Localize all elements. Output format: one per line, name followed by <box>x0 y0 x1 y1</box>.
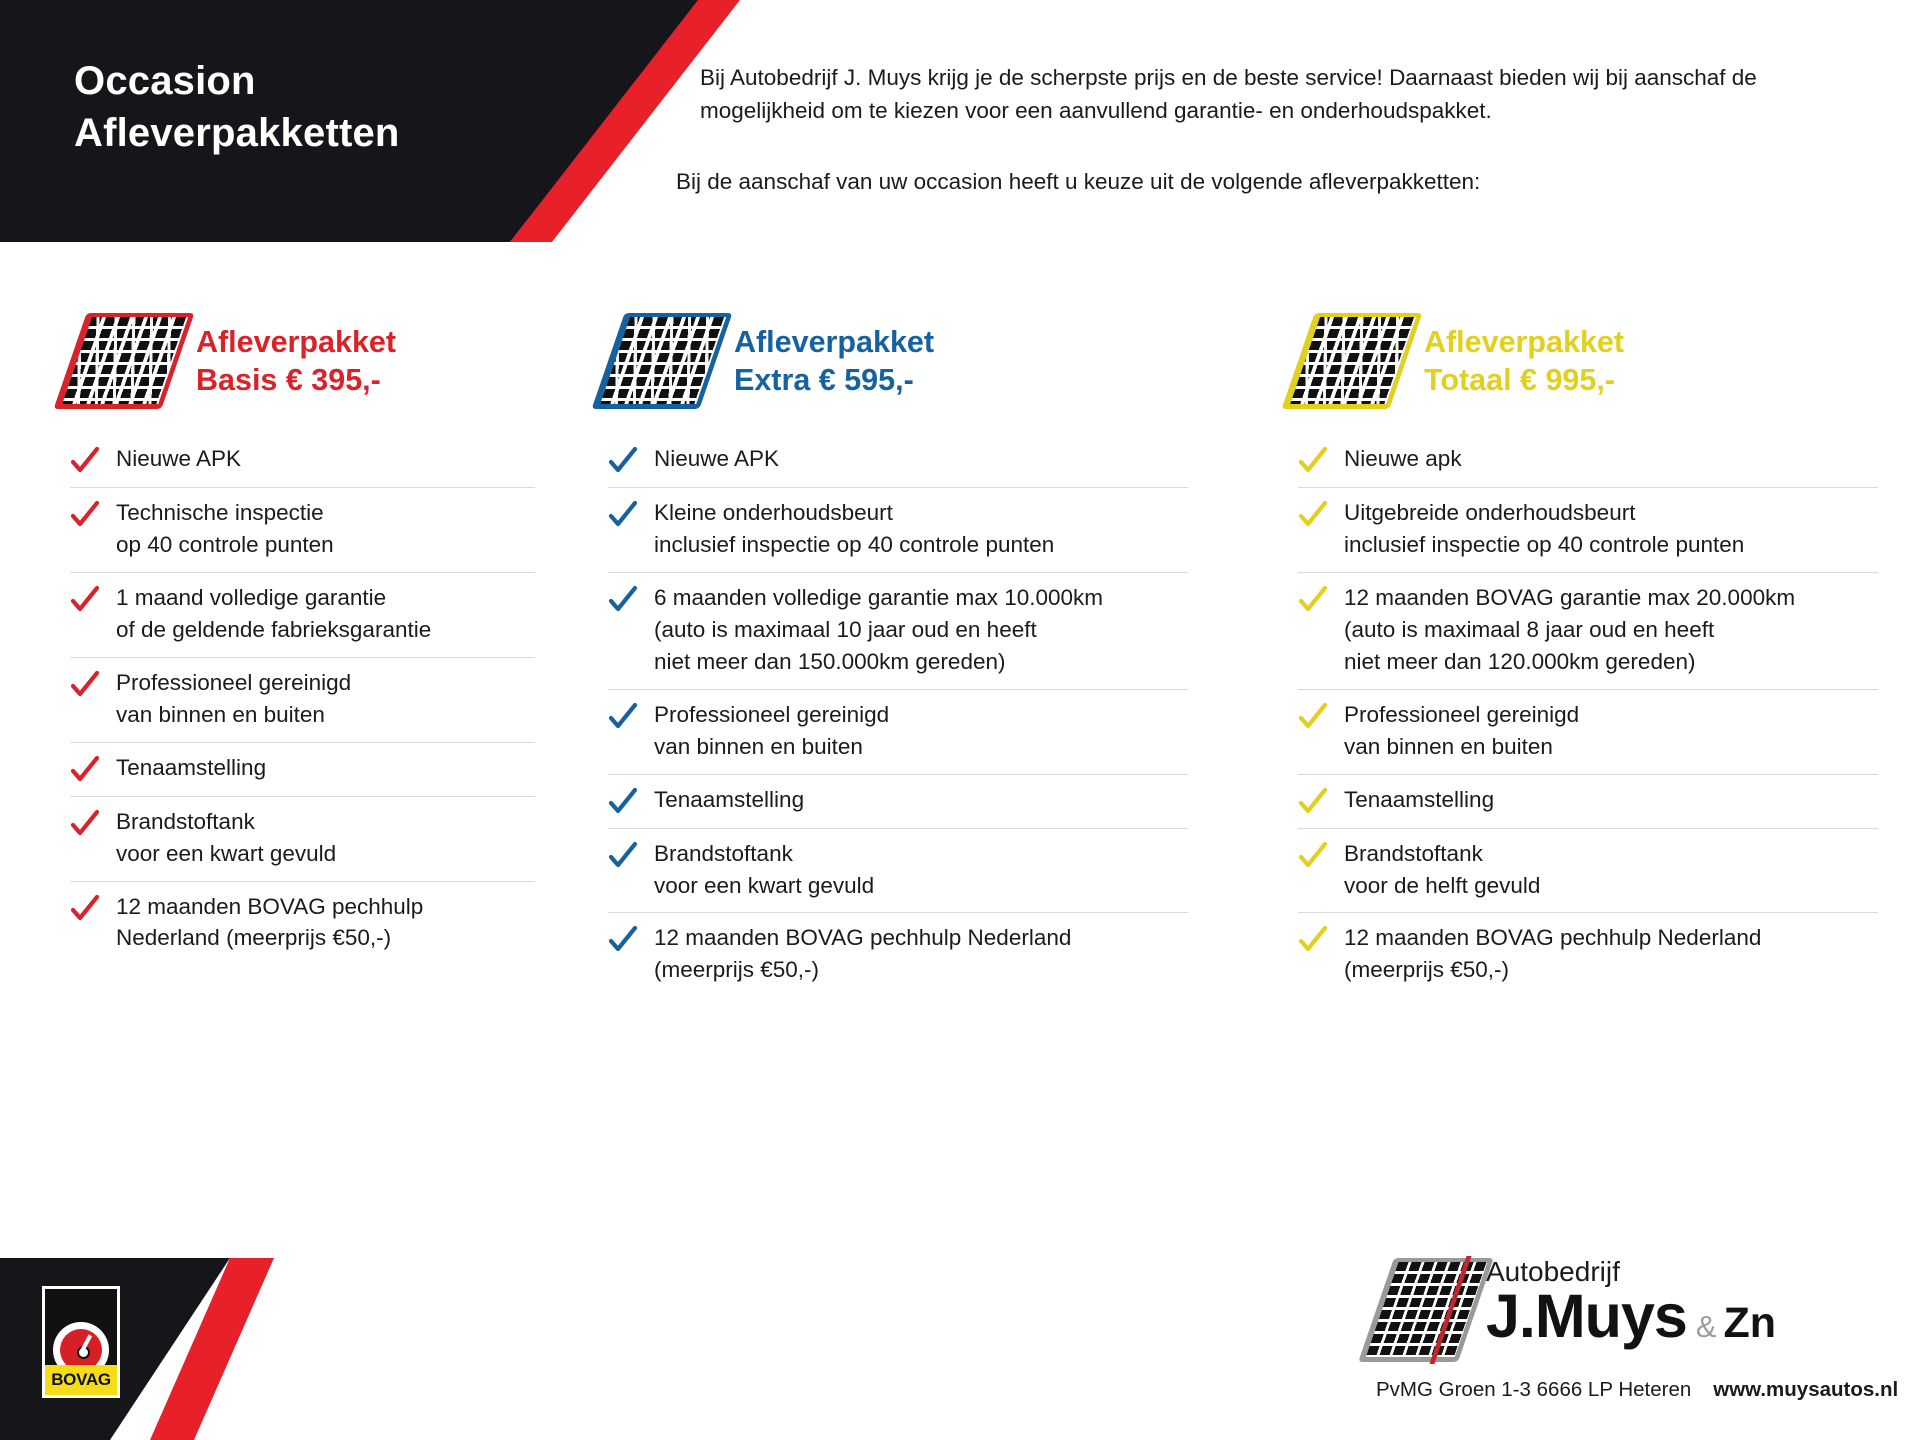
check-icon <box>608 500 638 530</box>
package-title-totaal: Afleverpakket Totaal € 995,- <box>1424 323 1624 400</box>
feature-text: 12 maanden BOVAG pechhulp Nederland (mee… <box>116 891 423 955</box>
package-title-extra: Afleverpakket Extra € 595,- <box>734 323 934 400</box>
feature-text: 1 maand volledige garantie of de geldend… <box>116 582 431 646</box>
package-header-extra: Afleverpakket Extra € 595,- <box>608 300 1188 422</box>
feature-item: Brandstoftank voor een kwart gevuld <box>608 829 1188 914</box>
feature-text: Professioneel gereinigd van binnen en bu… <box>1344 699 1579 763</box>
feature-item: Tenaamstelling <box>608 775 1188 829</box>
feature-text: 6 maanden volledige garantie max 10.000k… <box>654 582 1103 678</box>
feature-text: Uitgebreide onderhoudsbeurt inclusief in… <box>1344 497 1744 561</box>
flyer-page: Occasion Afleverpakketten Bij Autobedrij… <box>0 0 1920 1440</box>
feature-item: 12 maanden BOVAG pechhulp Nederland (mee… <box>70 882 535 966</box>
feature-text: Nieuwe apk <box>1344 443 1462 475</box>
check-icon <box>70 809 100 839</box>
check-icon <box>70 755 100 785</box>
feature-text: Nieuwe APK <box>116 443 241 475</box>
feature-item: Tenaamstelling <box>1298 775 1878 829</box>
package-title-line1: Afleverpakket <box>1424 323 1624 361</box>
feature-item: Uitgebreide onderhoudsbeurt inclusief in… <box>1298 488 1878 573</box>
feature-item: 12 maanden BOVAG garantie max 20.000km (… <box>1298 573 1878 690</box>
check-icon <box>1298 702 1328 732</box>
package-header-basis: Afleverpakket Basis € 395,- <box>70 300 535 422</box>
package-title-basis: Afleverpakket Basis € 395,- <box>196 323 396 400</box>
check-icon <box>1298 787 1328 817</box>
company-address: PvMG Groen 1-3 6666 LP Heteren <box>1376 1378 1691 1402</box>
feature-text: Kleine onderhoudsbeurt inclusief inspect… <box>654 497 1054 561</box>
footer-right: Autobedrijf J.Muys & Zn PvMG Groen 1-3 6… <box>1376 1258 1920 1402</box>
package-card-totaal: Afleverpakket Totaal € 995,- Nieuwe apk … <box>1298 300 1878 997</box>
feature-item: Brandstoftank voor de helft gevuld <box>1298 829 1878 914</box>
package-card-extra: Afleverpakket Extra € 595,- Nieuwe APK K… <box>608 300 1188 997</box>
package-header-totaal: Afleverpakket Totaal € 995,- <box>1298 300 1878 422</box>
check-icon <box>1298 841 1328 871</box>
feature-text: Tenaamstelling <box>1344 784 1494 816</box>
contact-row: PvMG Groen 1-3 6666 LP Heteren www.muysa… <box>1376 1378 1920 1402</box>
feature-item: 12 maanden BOVAG pechhulp Nederland (mee… <box>608 913 1188 997</box>
feature-item: Professioneel gereinigd van binnen en bu… <box>1298 690 1878 775</box>
check-icon <box>1298 925 1328 955</box>
bovag-label: BOVAG <box>51 1370 111 1390</box>
bovag-logo: BOVAG <box>42 1286 120 1398</box>
check-icon <box>608 925 638 955</box>
feature-item: 12 maanden BOVAG pechhulp Nederland (mee… <box>1298 913 1878 997</box>
feature-text: 12 maanden BOVAG garantie max 20.000km (… <box>1344 582 1795 678</box>
feature-list-totaal: Nieuwe apk Uitgebreide onderhoudsbeurt i… <box>1298 434 1878 997</box>
feature-item: Professioneel gereinigd van binnen en bu… <box>70 658 535 743</box>
package-title-line2: Extra € 595,- <box>734 361 934 399</box>
check-icon <box>70 585 100 615</box>
check-icon <box>608 446 638 476</box>
tire-icon <box>70 313 178 409</box>
check-icon <box>608 585 638 615</box>
intro-paragraph-2: Bij de aanschaf van uw occasion heeft u … <box>676 166 1876 199</box>
feature-text: Professioneel gereinigd van binnen en bu… <box>116 667 351 731</box>
feature-list-basis: Nieuwe APK Technische inspectie op 40 co… <box>70 434 535 965</box>
feature-item: 6 maanden volledige garantie max 10.000k… <box>608 573 1188 690</box>
company-name: J.Muys <box>1486 1288 1687 1346</box>
feature-text: Brandstoftank voor een kwart gevuld <box>654 838 874 902</box>
intro-paragraph-1: Bij Autobedrijf J. Muys krijg je de sche… <box>700 62 1880 128</box>
feature-text: 12 maanden BOVAG pechhulp Nederland (mee… <box>654 922 1071 986</box>
feature-item: Kleine onderhoudsbeurt inclusief inspect… <box>608 488 1188 573</box>
feature-item: Nieuwe apk <box>1298 434 1878 488</box>
check-icon <box>608 702 638 732</box>
feature-text: Professioneel gereinigd van binnen en bu… <box>654 699 889 763</box>
feature-item: Professioneel gereinigd van binnen en bu… <box>608 690 1188 775</box>
check-icon <box>1298 585 1328 615</box>
company-website[interactable]: www.muysautos.nl <box>1713 1378 1898 1402</box>
feature-item: Brandstoftank voor een kwart gevuld <box>70 797 535 882</box>
package-title-line1: Afleverpakket <box>734 323 934 361</box>
feature-item: Tenaamstelling <box>70 743 535 797</box>
feature-item: Technische inspectie op 40 controle punt… <box>70 488 535 573</box>
company-ampersand: & <box>1696 1309 1717 1345</box>
feature-text: Tenaamstelling <box>116 752 266 784</box>
page-title-line2: Afleverpakketten <box>74 107 400 159</box>
feature-text: 12 maanden BOVAG pechhulp Nederland (mee… <box>1344 922 1761 986</box>
page-title: Occasion Afleverpakketten <box>74 55 400 159</box>
feature-text: Brandstoftank voor de helft gevuld <box>1344 838 1540 902</box>
feature-list-extra: Nieuwe APK Kleine onderhoudsbeurt inclus… <box>608 434 1188 997</box>
footer-left: BOVAG <box>0 1258 420 1440</box>
check-icon <box>1298 500 1328 530</box>
check-icon <box>70 446 100 476</box>
package-title-line1: Afleverpakket <box>196 323 396 361</box>
tire-icon <box>608 313 716 409</box>
feature-text: Brandstoftank voor een kwart gevuld <box>116 806 336 870</box>
feature-item: Nieuwe APK <box>70 434 535 488</box>
package-title-line2: Basis € 395,- <box>196 361 396 399</box>
check-icon <box>70 670 100 700</box>
check-icon <box>70 894 100 924</box>
feature-text: Nieuwe APK <box>654 443 779 475</box>
check-icon <box>608 841 638 871</box>
feature-item: Nieuwe APK <box>608 434 1188 488</box>
feature-text: Tenaamstelling <box>654 784 804 816</box>
company-logo: Autobedrijf J.Muys & Zn <box>1376 1258 1920 1362</box>
page-title-line1: Occasion <box>74 55 400 107</box>
package-card-basis: Afleverpakket Basis € 395,- Nieuwe APK T… <box>70 300 535 965</box>
tire-icon <box>1376 1258 1476 1362</box>
feature-item: 1 maand volledige garantie of de geldend… <box>70 573 535 658</box>
check-icon <box>608 787 638 817</box>
package-title-line2: Totaal € 995,- <box>1424 361 1624 399</box>
header-band: Occasion Afleverpakketten Bij Autobedrij… <box>0 0 1920 242</box>
check-icon <box>1298 446 1328 476</box>
company-suffix: Zn <box>1724 1299 1777 1348</box>
tire-icon <box>1298 313 1406 409</box>
feature-text: Technische inspectie op 40 controle punt… <box>116 497 334 561</box>
check-icon <box>70 500 100 530</box>
